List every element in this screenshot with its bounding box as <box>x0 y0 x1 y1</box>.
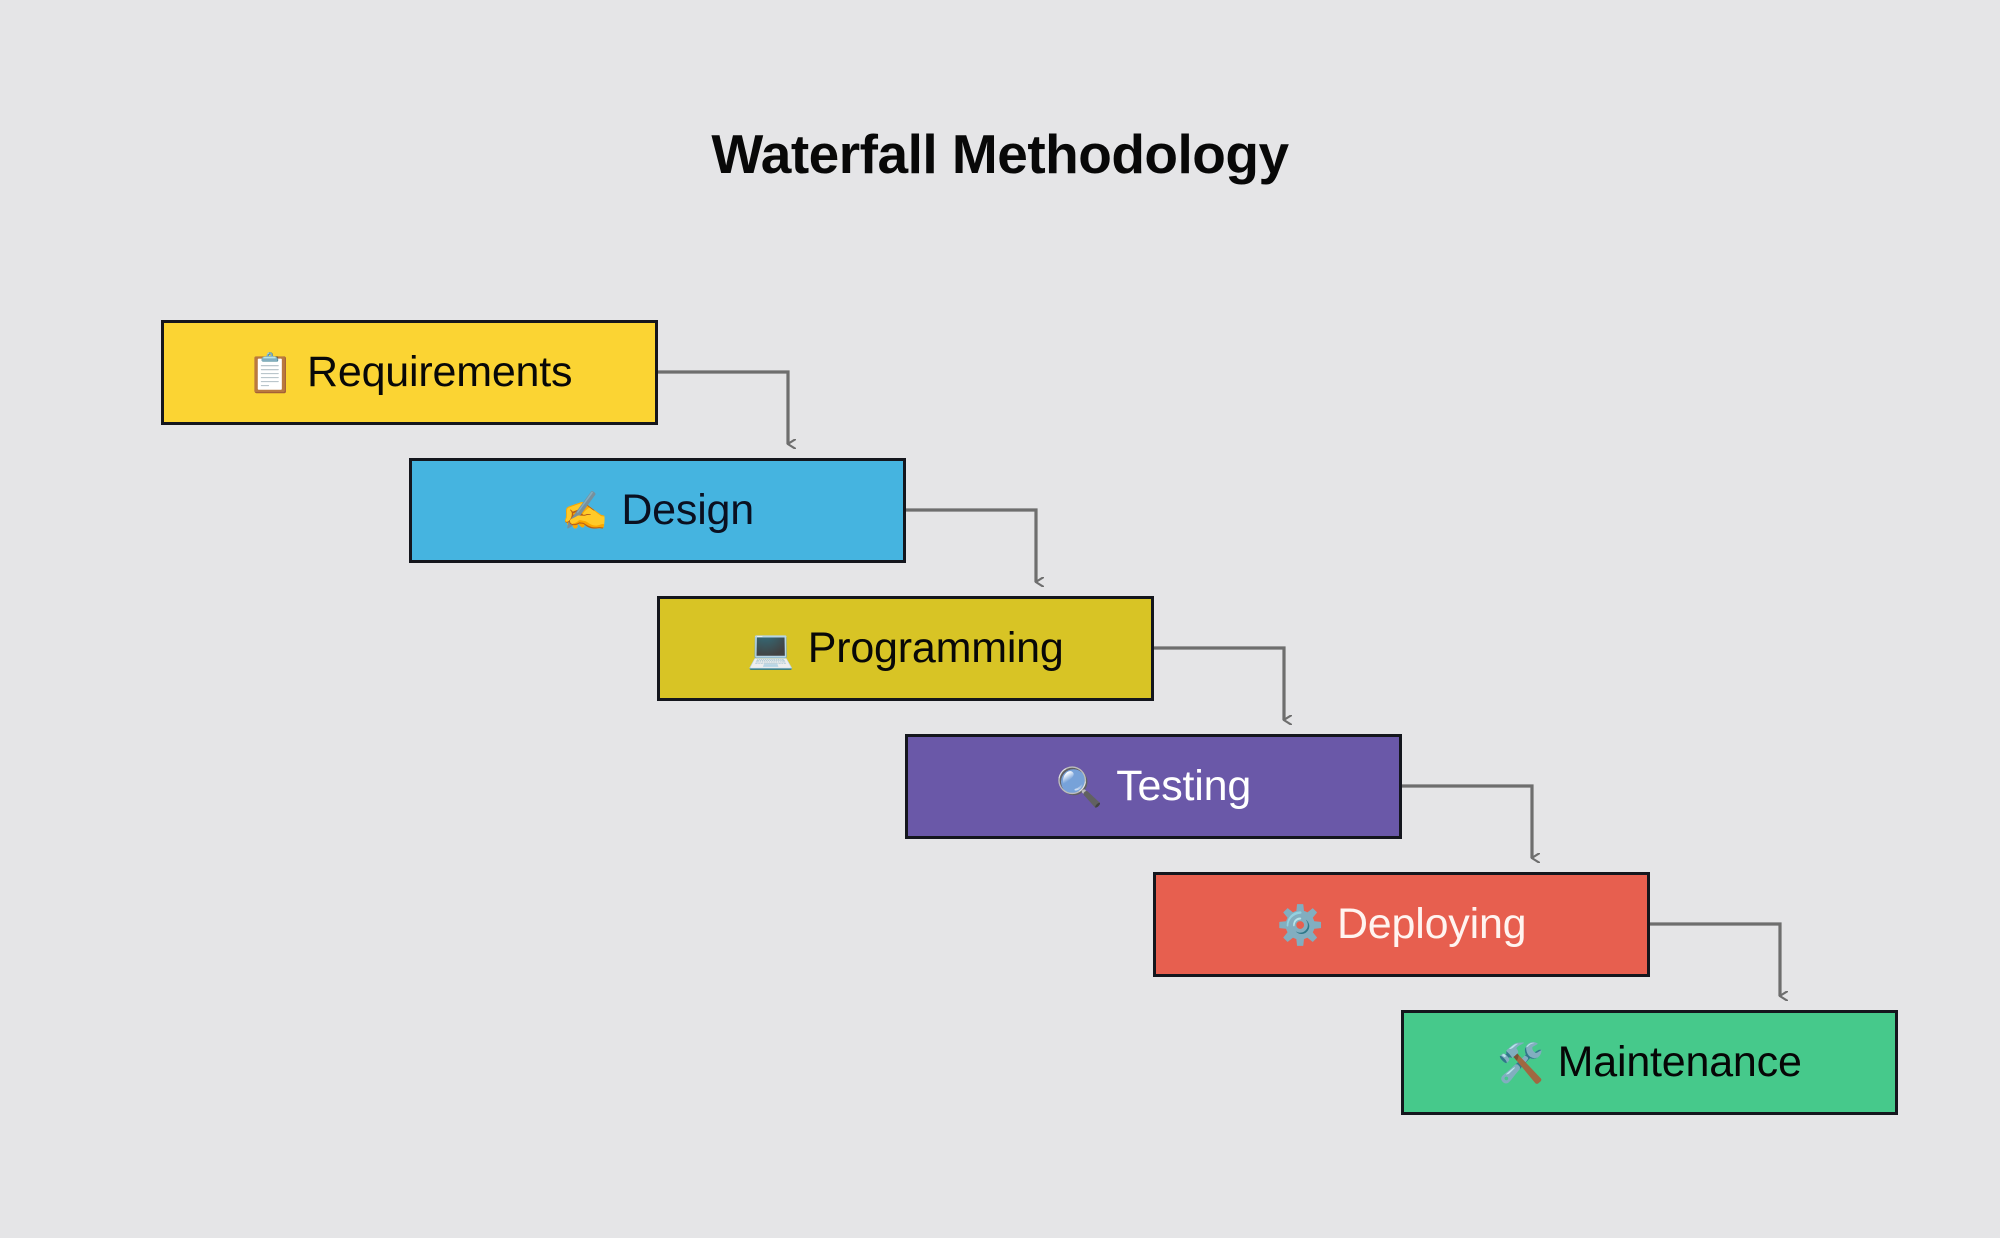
gear-icon: ⚙️ <box>1277 907 1324 945</box>
stage-label-maintenance: Maintenance <box>1558 1041 1802 1084</box>
laptop-icon: 💻 <box>747 631 794 669</box>
connector-requirements-to-design <box>658 372 788 444</box>
stage-label-deploying: Deploying <box>1337 903 1526 946</box>
stage-box-deploying[interactable]: ⚙️ Deploying <box>1153 872 1650 977</box>
hammer-and-wrench-icon: 🛠️ <box>1497 1045 1544 1083</box>
connector-deploying-to-maintenance <box>1650 924 1780 996</box>
stage-box-programming[interactable]: 💻 Programming <box>657 596 1154 701</box>
stage-label-testing: Testing <box>1116 765 1251 808</box>
page-title: Waterfall Methodology <box>0 122 2000 186</box>
connector-programming-to-testing <box>1154 648 1284 720</box>
stage-label-design: Design <box>621 489 754 532</box>
stage-box-testing[interactable]: 🔍 Testing <box>905 734 1402 839</box>
connector-design-to-programming <box>906 510 1036 582</box>
stage-box-requirements[interactable]: 📋 Requirements <box>161 320 658 425</box>
clipboard-icon: 📋 <box>247 355 294 393</box>
stage-box-maintenance[interactable]: 🛠️ Maintenance <box>1401 1010 1898 1115</box>
stage-box-design[interactable]: ✍️ Design <box>409 458 906 563</box>
waterfall-diagram-canvas: Waterfall Methodology 📋 Requirements ✍️ … <box>0 0 2000 1238</box>
stage-label-programming: Programming <box>808 627 1064 670</box>
magnifying-glass-icon: 🔍 <box>1056 769 1103 807</box>
writing-hand-icon: ✍️ <box>561 493 608 531</box>
stage-label-requirements: Requirements <box>307 351 572 394</box>
connector-testing-to-deploying <box>1402 786 1532 858</box>
